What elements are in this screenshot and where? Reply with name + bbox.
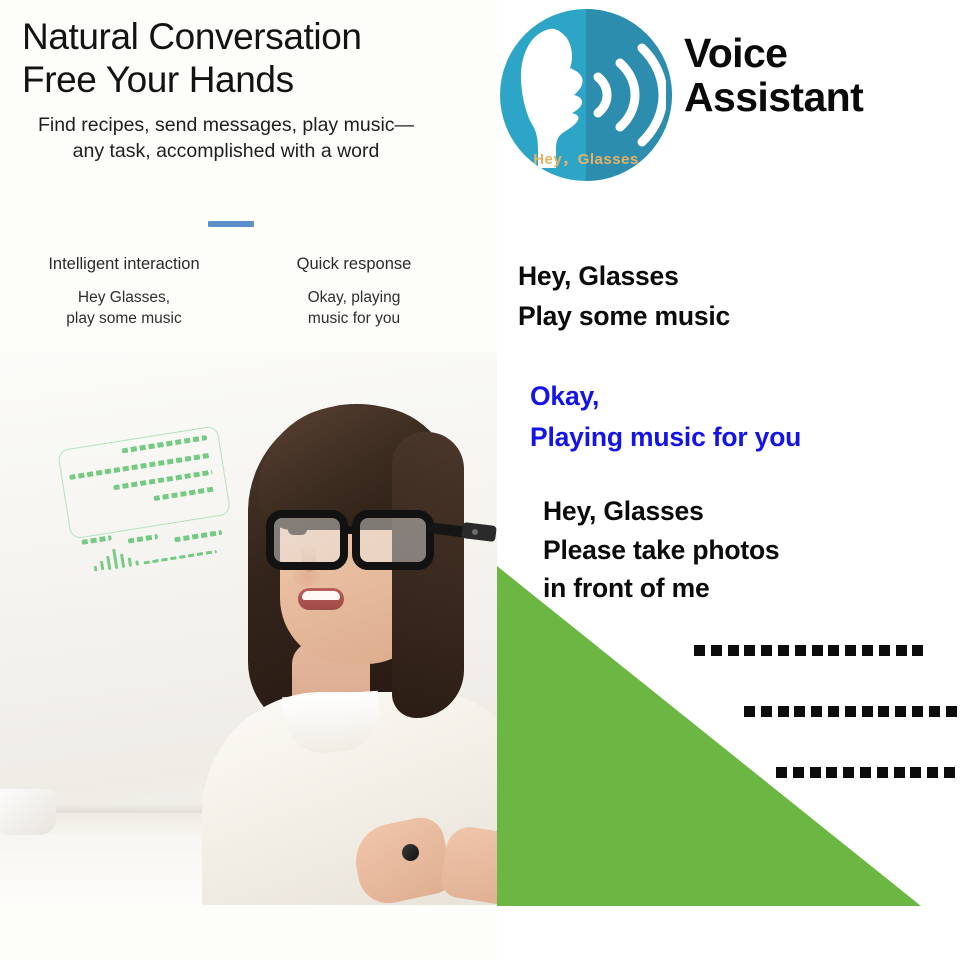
dot [828, 706, 839, 717]
dot [910, 767, 921, 778]
dot [877, 767, 888, 778]
dot [896, 645, 907, 656]
voice-assistant-logo: Hey，Glasses [500, 9, 672, 181]
dot [860, 767, 871, 778]
dot [912, 645, 923, 656]
dot [776, 767, 787, 778]
feature-body: Hey Glasses, play some music [24, 288, 224, 329]
glasses-bridge [344, 526, 360, 534]
dot [793, 767, 804, 778]
teeth [302, 591, 340, 600]
dot [845, 645, 856, 656]
left-panel: Natural Conversation Free Your Hands Fin… [0, 0, 497, 960]
feature-title: Quick response [254, 254, 454, 275]
dot [761, 706, 772, 717]
dot [894, 767, 905, 778]
feature-body: Okay, playing music for you [254, 288, 454, 329]
dialog-user-request-music: Hey, Glasses Play some music [518, 256, 948, 337]
dot [778, 706, 789, 717]
model-figure [206, 392, 497, 905]
dot [794, 706, 805, 717]
dot [862, 645, 873, 656]
soundwave-svg [592, 39, 666, 151]
dot [744, 706, 755, 717]
dotted-line-2 [744, 705, 960, 718]
product-lifestyle-photo [0, 352, 497, 905]
dialog-user-request-photos: Hey, Glasses Please take photos in front… [543, 492, 953, 608]
dot [744, 645, 755, 656]
smart-glasses-icon [266, 510, 466, 580]
dot [845, 706, 856, 717]
feature-intelligent-interaction: Intelligent interaction Hey Glasses, pla… [24, 254, 224, 330]
dot [694, 645, 705, 656]
dot [795, 645, 806, 656]
dot [811, 706, 822, 717]
cup-object [0, 789, 56, 835]
glasses-lens-left [266, 510, 348, 570]
dot [862, 706, 873, 717]
promo-banner: Natural Conversation Free Your Hands Fin… [0, 0, 960, 960]
accent-divider [208, 221, 254, 227]
brand-title: Voice Assistant [684, 32, 960, 120]
glasses-lens-right [352, 510, 434, 570]
dot [895, 706, 906, 717]
dot [944, 767, 955, 778]
logo-caption: Hey，Glasses [500, 148, 672, 169]
feature-quick-response: Quick response Okay, playing music for y… [254, 254, 454, 330]
dot [879, 645, 890, 656]
dialog-assistant-reply: Okay, Playing music for you [530, 376, 950, 458]
dot [843, 767, 854, 778]
dot [927, 767, 938, 778]
dot [946, 706, 957, 717]
dot [778, 645, 789, 656]
glasses-audio-module [461, 522, 497, 542]
dot [912, 706, 923, 717]
dotted-line-3 [776, 766, 960, 779]
dot [711, 645, 722, 656]
dot [810, 767, 821, 778]
dot [812, 645, 823, 656]
soundwave-icon [592, 39, 666, 151]
feature-title: Intelligent interaction [24, 254, 224, 275]
dot [761, 645, 772, 656]
dot [929, 706, 940, 717]
dot [828, 645, 839, 656]
dot [728, 645, 739, 656]
dot [826, 767, 837, 778]
page-title: Natural Conversation Free Your Hands [22, 16, 482, 102]
page-subtitle: Find recipes, send messages, play music—… [16, 112, 436, 164]
dotted-line-1 [694, 644, 923, 657]
dot [878, 706, 889, 717]
